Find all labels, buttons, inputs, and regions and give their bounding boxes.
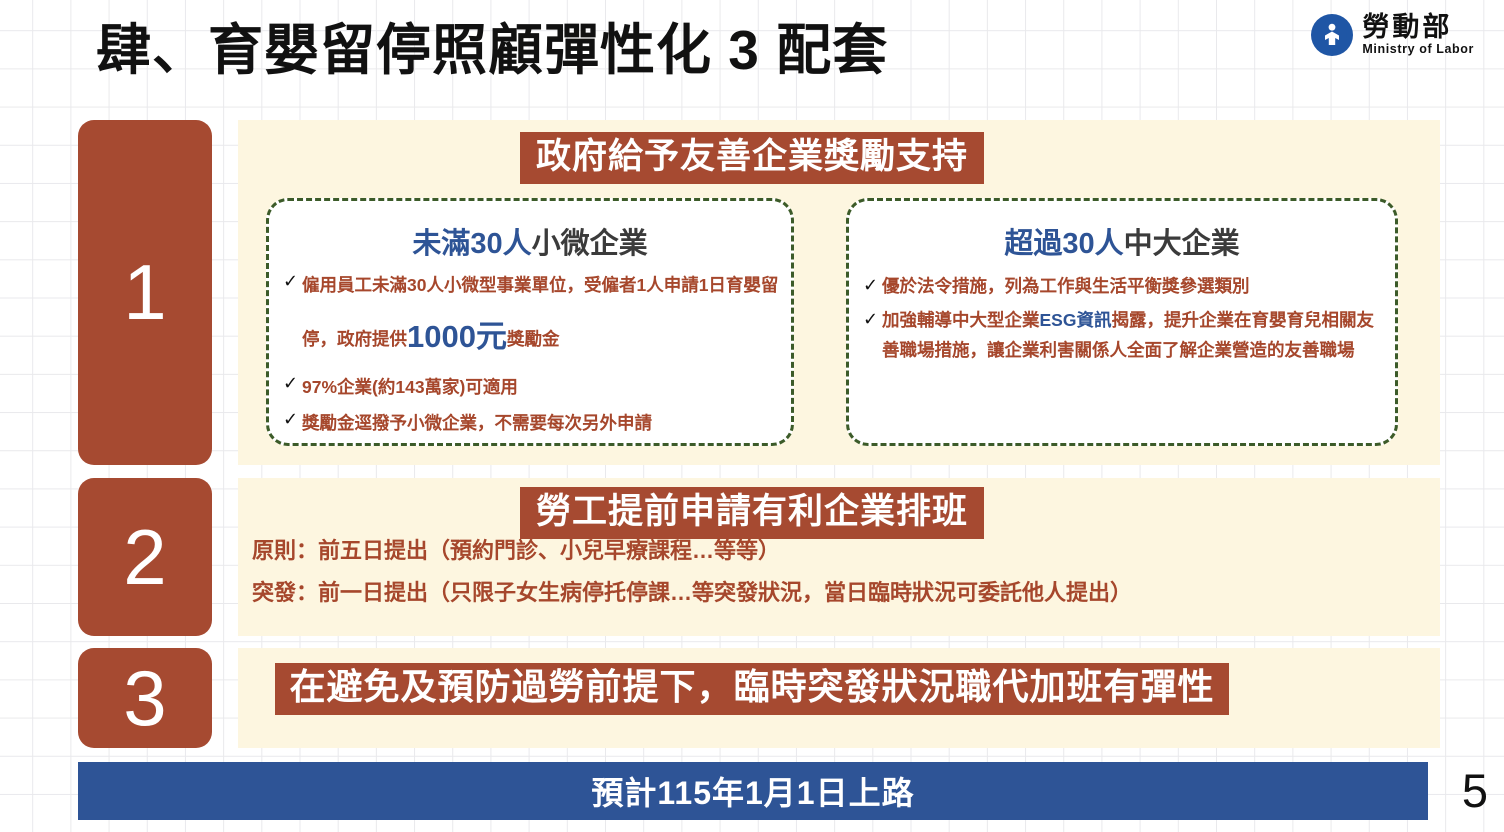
card-large-title: 超過30人中大企業 (849, 229, 1395, 261)
section-3-heading-wrap: 在避免及預防過勞前提下，臨時突發狀況職代加班有彈性 (0, 663, 1504, 715)
section-2-heading-wrap: 勞工提前申請有利企業排班 (0, 487, 1504, 539)
section-2-line-2: 突發：前一日提出（只限子女生病停托停課…等突發狀況，當日臨時狀況可委託他人提出） (252, 582, 1132, 604)
page-number: 5 (1462, 762, 1488, 820)
section-3-heading: 在避免及預防過勞前提下，臨時突發狀況職代加班有彈性 (275, 663, 1228, 715)
card-small-bullet-2-text: 97%企業(約143萬家)可適用 (302, 369, 783, 406)
card-large-bullets: ✓ 優於法令措施，列為工作與生活平衡獎參選類別 ✓ 加強輔導中大型企業ESG資訊… (849, 271, 1395, 365)
card-small-bullet-3: ✓ 獎勵金逕撥予小微企業，不需要每次另外申請 (283, 405, 783, 442)
logo-title-en: Ministry of Labor (1362, 43, 1474, 56)
card-small-enterprise: 未滿30人小微企業 ✓ 僱用員工未滿30人小微型事業單位，受僱者1人申請1日育嬰… (266, 198, 794, 446)
ministry-of-labor-emblem-icon (1311, 14, 1353, 56)
card-small-bullet-3-text: 獎勵金逕撥予小微企業，不需要每次另外申請 (302, 405, 783, 442)
check-icon: ✓ (283, 369, 299, 398)
section-1-heading-wrap: 政府給予友善企業獎勵支持 (0, 132, 1504, 184)
card-small-title: 未滿30人小微企業 (269, 229, 791, 261)
bullet-2-highlight: ESG資訊 (1040, 310, 1112, 330)
card-small-title-dark: 小微企業 (532, 228, 648, 260)
bullet-2-pre: 加強輔導中大型企業 (882, 310, 1040, 330)
card-small-title-blue: 未滿30人 (412, 228, 531, 260)
check-icon: ✓ (283, 405, 299, 434)
card-large-enterprise: 超過30人中大企業 ✓ 優於法令措施，列為工作與生活平衡獎參選類別 ✓ 加強輔導… (846, 198, 1398, 446)
check-icon: ✓ (863, 271, 879, 300)
card-small-bullets: ✓ 僱用員工未滿30人小微型事業單位，受僱者1人申請1日育嬰留停，政府提供100… (269, 267, 791, 442)
slide-canvas: 肆、育嬰留停照顧彈性化 3 配套 勞動部 Ministry of Labor 1… (0, 0, 1504, 832)
section-2-heading: 勞工提前申請有利企業排班 (520, 487, 984, 539)
card-large-bullet-2: ✓ 加強輔導中大型企業ESG資訊揭露，提升企業在育嬰育兒相關友善職場措施，讓企業… (863, 305, 1383, 365)
section-2-body: 原則：前五日提出（預約門診、小兒早療課程…等等） 突發：前一日提出（只限子女生病… (252, 540, 1132, 624)
logo-title-cn: 勞動部 (1362, 12, 1452, 42)
ministry-logo: 勞動部 Ministry of Labor (1311, 14, 1474, 56)
bullet-1-amount: 1000元 (407, 319, 507, 354)
section-2-line-1: 原則：前五日提出（預約門診、小兒早療課程…等等） (252, 540, 1132, 562)
card-large-title-blue: 超過30人 (1004, 228, 1123, 260)
card-large-title-dark: 中大企業 (1124, 228, 1240, 260)
card-large-bullet-1-text: 優於法令措施，列為工作與生活平衡獎參選類別 (882, 271, 1383, 301)
footer-banner: 預計115年1月1日上路 (78, 762, 1428, 820)
card-large-bullet-1: ✓ 優於法令措施，列為工作與生活平衡獎參選類別 (863, 271, 1383, 301)
card-small-bullet-1: ✓ 僱用員工未滿30人小微型事業單位，受僱者1人申請1日育嬰留停，政府提供100… (283, 267, 783, 369)
check-icon: ✓ (863, 305, 879, 334)
check-icon: ✓ (283, 267, 299, 296)
card-large-bullet-2-text: 加強輔導中大型企業ESG資訊揭露，提升企業在育嬰育兒相關友善職場措施，讓企業利害… (882, 305, 1383, 365)
logo-text: 勞動部 Ministry of Labor (1362, 14, 1474, 56)
card-small-bullet-2: ✓ 97%企業(約143萬家)可適用 (283, 369, 783, 406)
bullet-1-part2: 獎勵金 (507, 329, 560, 349)
section-1-heading: 政府給予友善企業獎勵支持 (520, 132, 984, 184)
card-small-bullet-1-text: 僱用員工未滿30人小微型事業單位，受僱者1人申請1日育嬰留停，政府提供1000元… (302, 267, 783, 369)
page-title: 肆、育嬰留停照顧彈性化 3 配套 (96, 12, 888, 88)
